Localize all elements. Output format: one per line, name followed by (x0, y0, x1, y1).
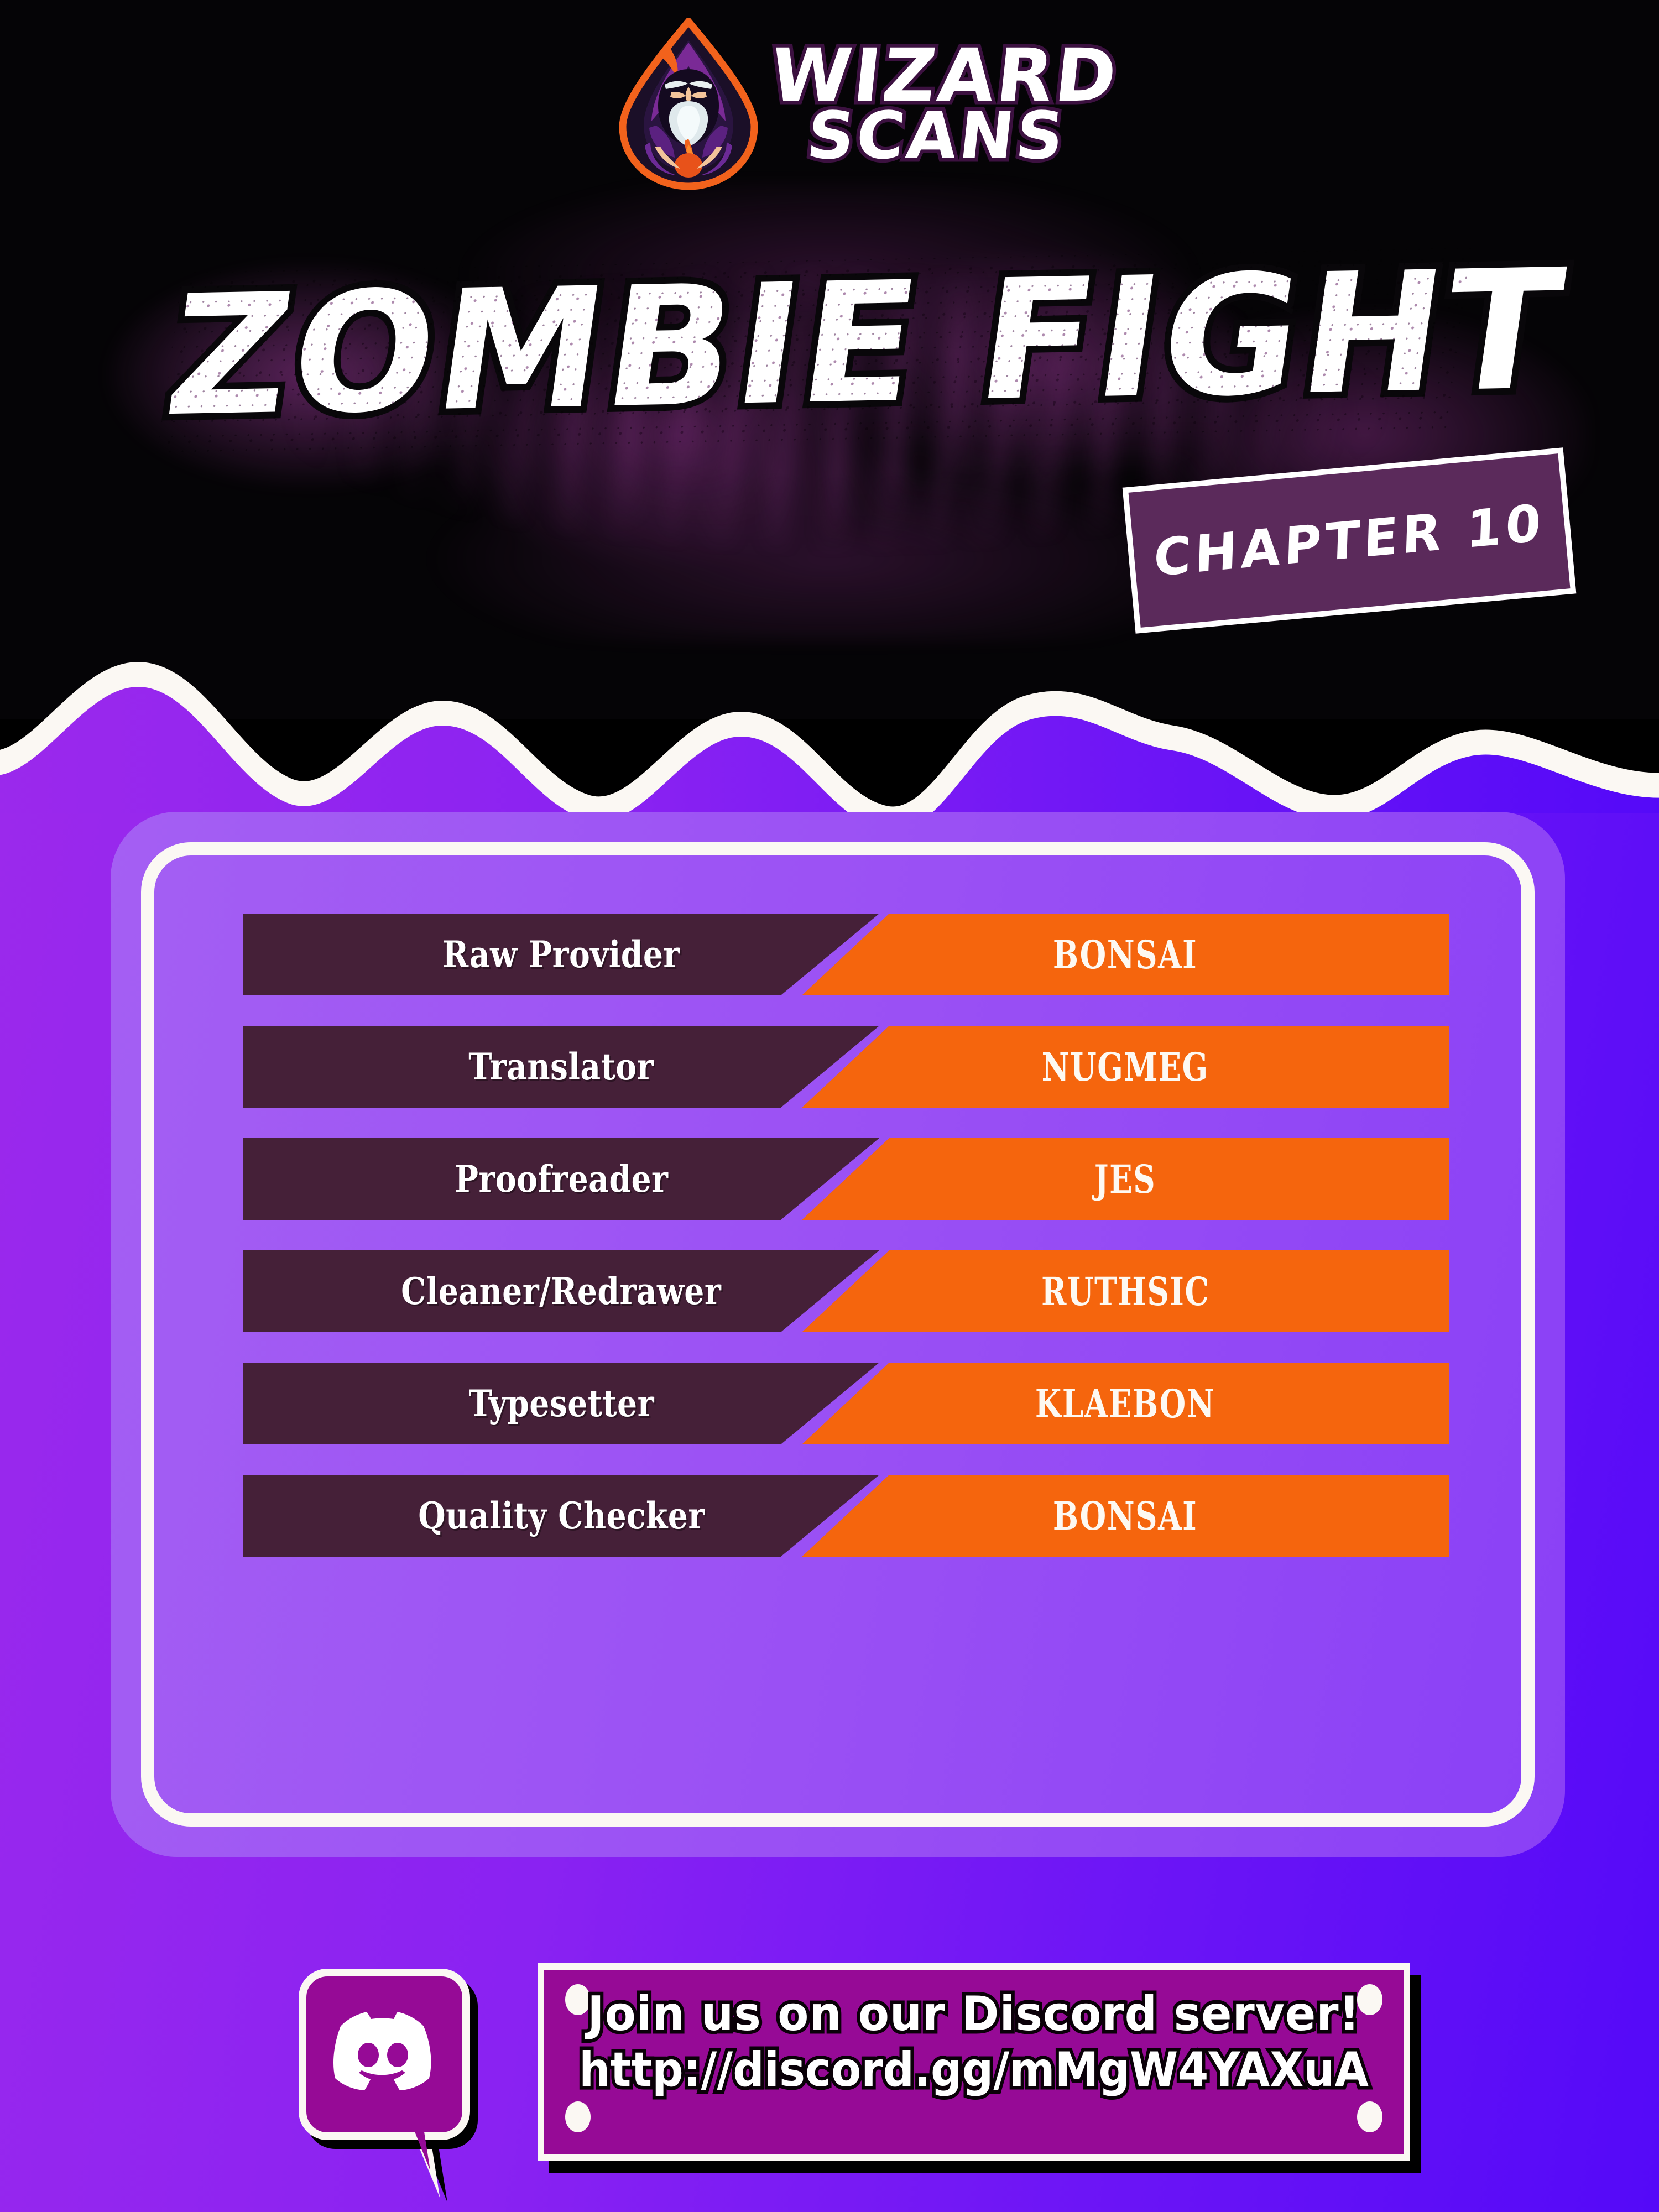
credit-name-chip: RUTHSIC (802, 1250, 1449, 1332)
brand-lockup: WIZARD SCANS (619, 15, 1118, 192)
table-row: Raw Provider BONSAI (243, 914, 1449, 995)
credit-name-chip: NUGMEG (802, 1026, 1449, 1108)
discord-icon (333, 2008, 436, 2091)
credit-name-chip: BONSAI (802, 1475, 1449, 1557)
credit-name-label: KLAEBON (1035, 1381, 1215, 1427)
credit-role-chip: Proofreader (243, 1138, 879, 1220)
header-banner: WIZARD SCANS ZOMBIE FIGHT CHAPTER 10 (0, 0, 1659, 719)
credit-role-label: Raw Provider (442, 933, 680, 976)
credit-name-chip: KLAEBON (802, 1363, 1449, 1444)
credits-table: Raw Provider BONSAI Translator NUGMEG Pr… (243, 914, 1449, 1557)
chapter-badge-label: CHAPTER 10 (1153, 493, 1546, 588)
credit-role-chip: Quality Checker (243, 1475, 879, 1557)
credit-role-label: Quality Checker (418, 1494, 705, 1537)
credit-role-chip: Raw Provider (243, 914, 879, 995)
credit-name-label: JES (1094, 1156, 1156, 1202)
table-row: Typesetter KLAEBON (243, 1363, 1449, 1444)
credit-role-label: Translator (469, 1045, 654, 1088)
credit-name-chip: JES (802, 1138, 1449, 1220)
discord-footer: Join us on our Discord server! http://di… (299, 1969, 1410, 2201)
table-row: Cleaner/Redrawer RUTHSIC (243, 1250, 1449, 1332)
table-row: Translator NUGMEG (243, 1026, 1449, 1108)
credit-name-label: RUTHSIC (1041, 1269, 1210, 1314)
series-title: ZOMBIE FIGHT (158, 248, 1479, 442)
credit-role-chip: Translator (243, 1026, 879, 1108)
credit-role-label: Cleaner/Redrawer (401, 1270, 721, 1313)
discord-bubble[interactable] (299, 1969, 470, 2140)
hooded-wizard-logo-icon (619, 18, 758, 190)
table-row: Proofreader JES (243, 1138, 1449, 1220)
credit-role-label: Proofreader (455, 1157, 668, 1201)
credit-name-label: BONSAI (1053, 1493, 1197, 1539)
screw-icon (565, 2101, 591, 2132)
credit-name-label: NUGMEG (1042, 1044, 1209, 1090)
discord-invite-text: Join us on our Discord server! http://di… (544, 1989, 1404, 2096)
table-row: Quality Checker BONSAI (243, 1475, 1449, 1557)
discord-invite-headline: Join us on our Discord server! (566, 1989, 1382, 2040)
credit-role-label: Typesetter (468, 1382, 654, 1425)
credit-role-chip: Cleaner/Redrawer (243, 1250, 879, 1332)
credit-name-chip: BONSAI (802, 914, 1449, 995)
credit-name-label: BONSAI (1053, 932, 1197, 978)
credit-role-chip: Typesetter (243, 1363, 879, 1444)
brand-line-1: WIZARD (768, 46, 1121, 106)
discord-invite-url[interactable]: http://discord.gg/mMgW4YAXuA (578, 2044, 1369, 2096)
discord-invite-plate[interactable]: Join us on our Discord server! http://di… (538, 1963, 1410, 2161)
screw-icon (1357, 2101, 1383, 2132)
brand-line-2: SCANS (805, 109, 1068, 163)
